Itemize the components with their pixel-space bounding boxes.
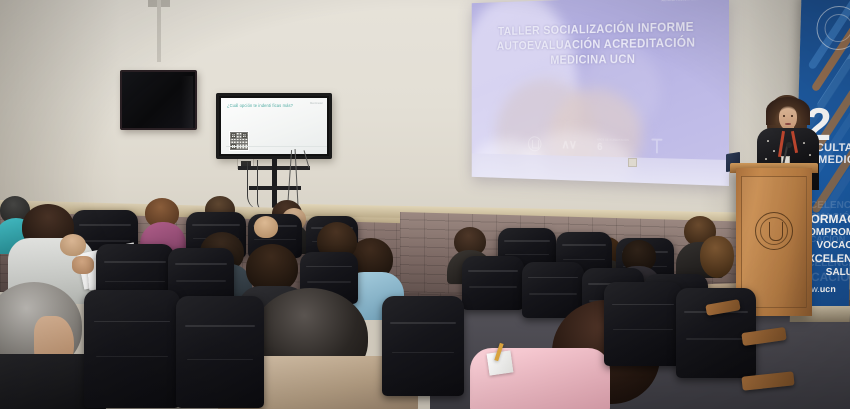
- accreditation-logo-icon: ∧∨: [561, 137, 576, 152]
- seat[interactable]: [462, 256, 524, 310]
- auditorium-photo: ACREDITACIÓN MEDICINA UCN TALLER SOCIALI…: [0, 0, 850, 409]
- six-years-logo-icon: AÑOS DE ACREDITACIÓN 6: [597, 138, 629, 153]
- cart-display: ¿Cuál opción te indenti ficas más? Menti…: [216, 93, 332, 159]
- projected-slide: ACREDITACIÓN MEDICINA UCN TALLER SOCIALI…: [472, 0, 729, 186]
- audience-hand: [72, 256, 94, 274]
- audience-head: [246, 244, 298, 292]
- qr-finder-icon: [242, 133, 247, 138]
- seat[interactable]: [176, 296, 264, 408]
- cart-display-screen: ¿Cuál opción te indenti ficas más? Menti…: [221, 98, 327, 154]
- audience-hand: [60, 234, 86, 256]
- projection-screen: ACREDITACIÓN MEDICINA UCN TALLER SOCIALI…: [472, 0, 729, 186]
- ucn-logo-icon: [528, 136, 541, 151]
- jacket-detail: [767, 140, 769, 142]
- six-years-number: 6: [597, 141, 602, 153]
- cable: [257, 160, 267, 212]
- speaker-hair-front: [766, 97, 810, 125]
- seat[interactable]: [604, 282, 682, 366]
- cna-logo-icon: [651, 139, 664, 155]
- audience-head: [700, 236, 734, 278]
- audience-head: [254, 216, 278, 238]
- banner-word-vocacion: VOCACIÓN: [816, 240, 850, 251]
- cart-slide-corner-note: Mentimeter: [310, 102, 323, 105]
- qr-code-icon: [229, 131, 249, 151]
- slide-title: TALLER SOCIALIZACIÓN INFORME AUTOEVALUAC…: [472, 18, 725, 68]
- jacket-detail: [765, 158, 767, 160]
- seat[interactable]: [84, 290, 180, 408]
- wall-plate: [628, 158, 637, 167]
- cart-slide-question: ¿Cuál opción te indenti ficas más?: [227, 103, 293, 108]
- ceiling-mount-pole: [157, 0, 161, 62]
- cart-slide-axis: [226, 146, 327, 147]
- jacket-detail: [803, 142, 805, 144]
- wall-tv-off: [120, 70, 197, 130]
- banner-word-salud: SALUD: [826, 267, 850, 278]
- jacket-detail: [809, 154, 811, 156]
- qr-finder-icon: [231, 133, 236, 138]
- slide-top-note: ACREDITACIÓN MEDICINA UCN: [662, 0, 720, 2]
- university-seal-icon: [755, 212, 793, 250]
- seat[interactable]: [382, 296, 464, 396]
- jacket-detail: [773, 150, 775, 152]
- microphone-icon: [786, 142, 792, 148]
- banner-url-domain: ucn: [820, 284, 836, 294]
